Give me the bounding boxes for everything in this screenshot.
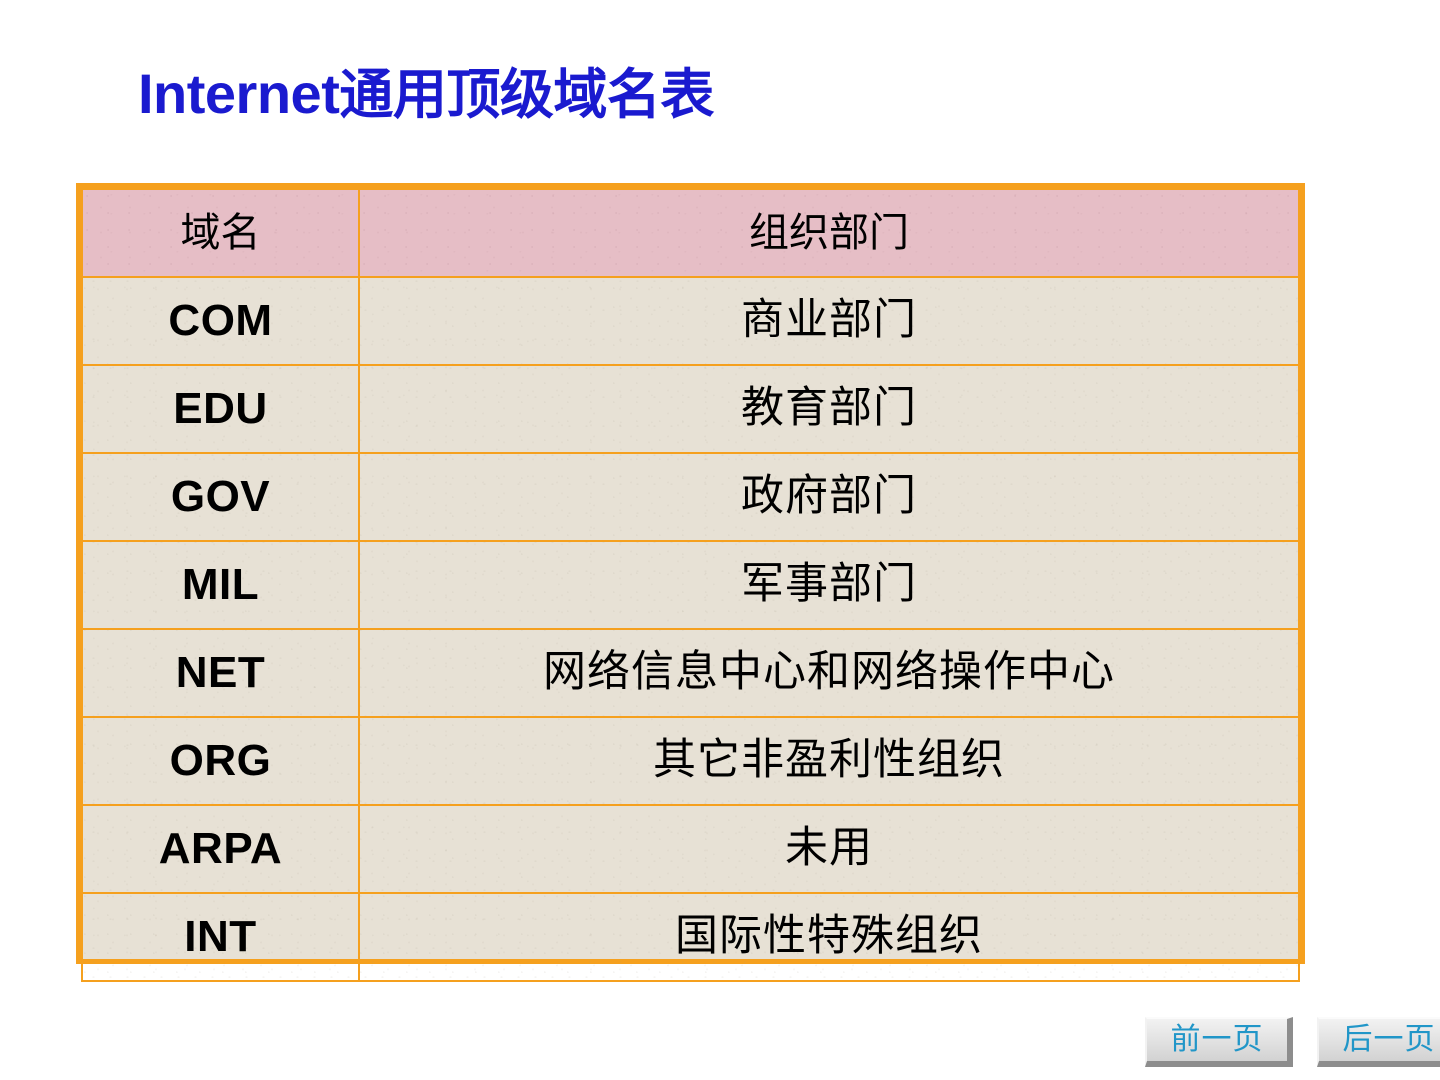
cell-organization: 国际性特殊组织 [359, 893, 1299, 981]
cell-organization: 政府部门 [359, 453, 1299, 541]
domain-table-container: 域名 组织部门 COM 商业部门 EDU 教育部门 [76, 183, 1305, 964]
table-row: ARPA 未用 [82, 805, 1299, 893]
cell-domain: EDU [82, 365, 359, 453]
page-title: Internet通用顶级域名表 [138, 66, 714, 122]
cell-organization: 网络信息中心和网络操作中心 [359, 629, 1299, 717]
domain-table: 域名 组织部门 COM 商业部门 EDU 教育部门 [81, 188, 1300, 982]
cell-domain: INT [82, 893, 359, 981]
cell-domain: ARPA [82, 805, 359, 893]
column-header-domain: 域名 [82, 189, 359, 277]
column-header-organization: 组织部门 [359, 189, 1299, 277]
cell-organization: 军事部门 [359, 541, 1299, 629]
domain-table-body: 域名 组织部门 COM 商业部门 EDU 教育部门 [82, 189, 1299, 981]
previous-page-button[interactable]: 前一页 [1145, 1017, 1293, 1067]
table-row: MIL 军事部门 [82, 541, 1299, 629]
page-title-cjk: 通用顶级域名表 [339, 63, 714, 126]
cell-domain: ORG [82, 717, 359, 805]
cell-domain: MIL [82, 541, 359, 629]
table-row: GOV 政府部门 [82, 453, 1299, 541]
table-row: INT 国际性特殊组织 [82, 893, 1299, 981]
cell-domain: NET [82, 629, 359, 717]
previous-page-label: 前一页 [1171, 1025, 1264, 1055]
table-header-row: 域名 组织部门 [82, 189, 1299, 277]
table-row: ORG 其它非盈利性组织 [82, 717, 1299, 805]
next-page-label: 后一页 [1343, 1025, 1436, 1055]
table-row: COM 商业部门 [82, 277, 1299, 365]
next-page-button[interactable]: 后一页 [1317, 1017, 1440, 1067]
cell-organization: 教育部门 [359, 365, 1299, 453]
cell-domain: COM [82, 277, 359, 365]
slide-navigation: 前一页 后一页 [1145, 1017, 1440, 1067]
page-title-latin: Internet [138, 62, 339, 125]
cell-organization: 未用 [359, 805, 1299, 893]
cell-organization: 商业部门 [359, 277, 1299, 365]
table-row: EDU 教育部门 [82, 365, 1299, 453]
cell-domain: GOV [82, 453, 359, 541]
cell-organization: 其它非盈利性组织 [359, 717, 1299, 805]
table-row: NET 网络信息中心和网络操作中心 [82, 629, 1299, 717]
